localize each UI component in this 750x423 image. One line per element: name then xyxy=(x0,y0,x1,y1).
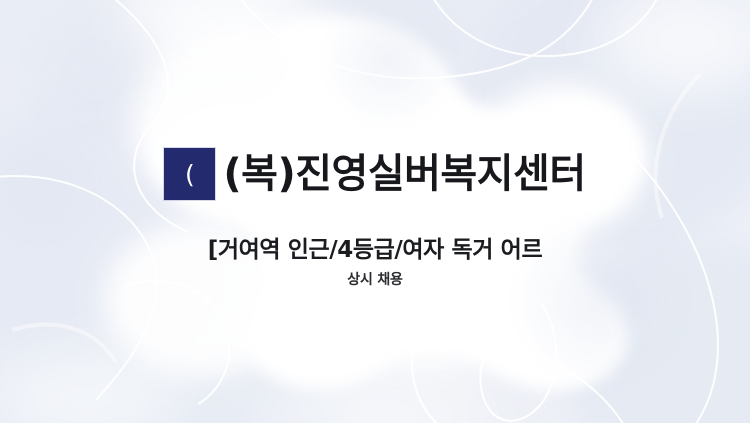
card-content: ( (복)진영실버복지센터 [거여역 인근/4등급/여자 독거 어르 상시 채용 xyxy=(0,0,750,423)
company-header: ( (복)진영실버복지센터 xyxy=(0,144,750,204)
job-title: [거여역 인근/4등급/여자 독거 어르 xyxy=(0,236,750,265)
job-posting-card: ( (복)진영실버복지센터 [거여역 인근/4등급/여자 독거 어르 상시 채용 xyxy=(0,0,750,423)
company-logo-glyph: ( xyxy=(185,162,195,187)
company-logo-mark: ( xyxy=(164,148,215,200)
hiring-type-label: 상시 채용 xyxy=(0,272,750,290)
company-name: (복)진영실버복지센터 xyxy=(223,154,585,194)
